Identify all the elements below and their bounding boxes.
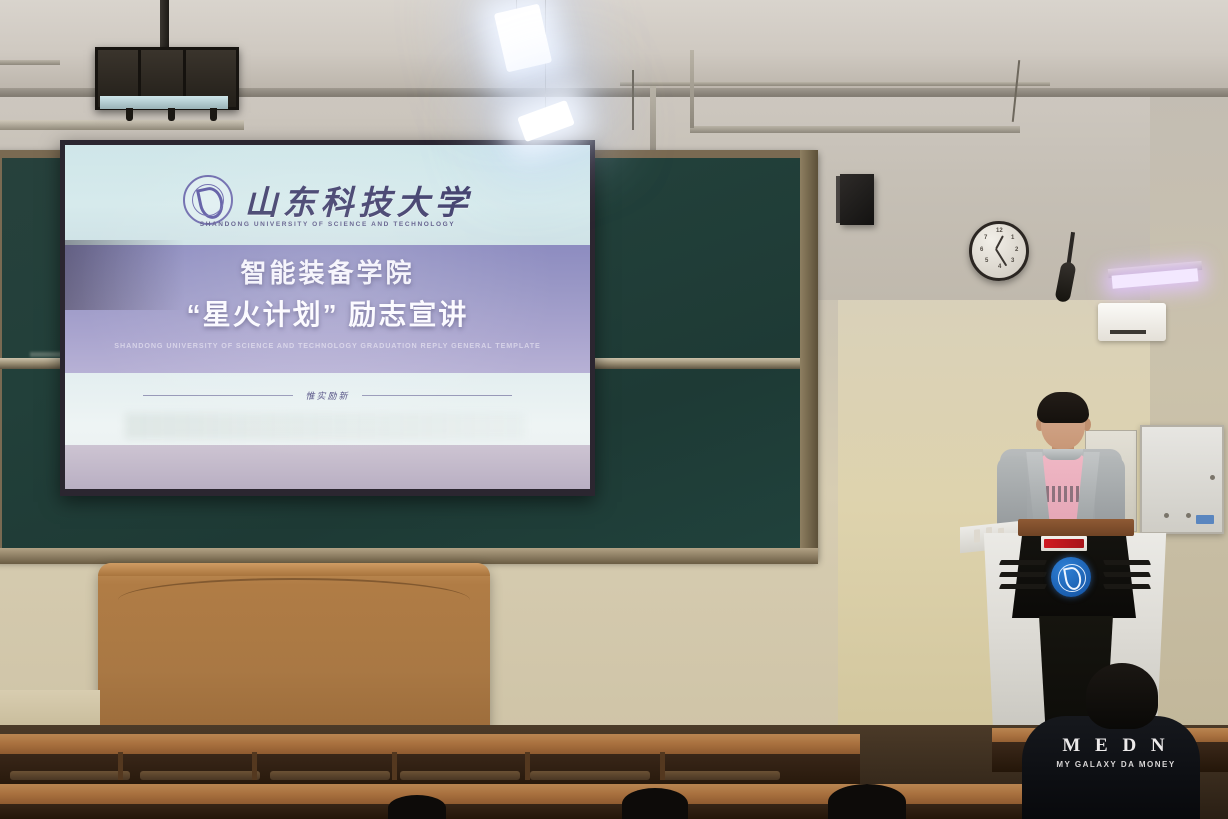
clock-numeral-3: 3 xyxy=(1011,258,1014,264)
clock-numeral-2: 2 xyxy=(1015,247,1018,253)
podium-vent-r1 xyxy=(1103,560,1151,565)
ceiling-conduit xyxy=(690,126,1020,133)
podium-label-red xyxy=(1044,539,1084,548)
clock-numeral-1: 1 xyxy=(1011,235,1014,241)
podium-vent-r3 xyxy=(1103,584,1151,589)
clock-numeral-4: 4 xyxy=(998,264,1001,270)
bench-leg-2 xyxy=(252,752,257,780)
wall-access-point xyxy=(1098,303,1166,341)
university-motto: 惟实励新 xyxy=(305,389,349,402)
podium-vent-l2 xyxy=(999,572,1047,577)
clock-numeral-12: 12 xyxy=(996,228,1003,234)
podium-desktop xyxy=(1018,519,1134,536)
blackboard-right-frame xyxy=(800,150,818,564)
projector-foot-3 xyxy=(210,108,217,121)
audience-head-2 xyxy=(622,788,688,819)
panel-screw-1 xyxy=(1164,513,1169,518)
presentation-slide: 山东科技大学 SHANDONG UNIVERSITY OF SCIENCE AN… xyxy=(65,145,590,489)
bench-leg-4 xyxy=(525,752,530,780)
bench-seat-4 xyxy=(400,771,520,780)
bench-seat-2 xyxy=(140,771,260,780)
bench-leg-5 xyxy=(660,752,665,780)
conduit-riser xyxy=(690,50,694,128)
shirt-graphic xyxy=(1046,486,1080,502)
bench-leg-3 xyxy=(392,752,397,780)
bench-seat-5 xyxy=(530,771,650,780)
audience-head-1 xyxy=(388,795,446,819)
motto-rule-left xyxy=(143,395,293,396)
podium-vent-l1 xyxy=(999,560,1047,565)
projector-mount-pole xyxy=(160,0,169,50)
jacket-text-main: M E D N xyxy=(1046,735,1186,757)
panel-sticker xyxy=(1196,515,1214,524)
blackboard-bottom-rail xyxy=(0,548,818,564)
panel-screw-2 xyxy=(1186,513,1191,518)
shelf-item-1 xyxy=(974,529,980,543)
projection-screen: 山东科技大学 SHANDONG UNIVERSITY OF SCIENCE AN… xyxy=(60,140,595,496)
projector-foot-2 xyxy=(168,108,175,121)
access-point-vent xyxy=(1110,330,1146,334)
projector-foot-1 xyxy=(126,108,133,121)
bench-seat-3 xyxy=(270,771,390,780)
projector-body xyxy=(100,96,228,109)
pipe-left xyxy=(0,60,60,65)
clock-numeral-6: 6 xyxy=(980,247,983,253)
audience-student-head xyxy=(1086,663,1158,729)
clock-hour-hand xyxy=(995,235,1004,249)
far-right-wall xyxy=(1150,95,1228,735)
podium-vent-l3 xyxy=(999,584,1047,589)
wall-clock: 12 1 2 3 4 5 6 7 xyxy=(969,221,1029,281)
bench-row1-top xyxy=(0,734,860,754)
audience-head-3 xyxy=(828,784,906,819)
seal-glyph-icon xyxy=(195,185,225,221)
clock-numeral-5: 5 xyxy=(985,258,988,264)
university-seal-icon xyxy=(183,175,233,225)
bench-seat-1 xyxy=(10,771,130,780)
motto-rule-right xyxy=(362,395,512,396)
hanging-wire-a xyxy=(632,70,634,130)
lecture-hall-photo: 山东科技大学 SHANDONG UNIVERSITY OF SCIENCE AN… xyxy=(0,0,1228,819)
university-name-en: SHANDONG UNIVERSITY OF SCIENCE AND TECHN… xyxy=(65,221,590,228)
slide-ghost-text xyxy=(125,413,525,439)
jacket-text-sub: MY GALAXY DA MONEY xyxy=(1046,760,1186,769)
slide-title-line1: 智能装备学院 xyxy=(65,253,590,290)
ceiling-pipe-upper xyxy=(620,82,1050,86)
podium-vent-r2 xyxy=(1103,572,1151,577)
panel-lock xyxy=(1210,475,1215,480)
slide-subtitle-en: SHANDONG UNIVERSITY OF SCIENCE AND TECHN… xyxy=(65,341,590,350)
slide-bottom-strip xyxy=(65,445,590,489)
bench-leg-1 xyxy=(118,752,123,780)
blackboard-top-ledge xyxy=(0,120,244,130)
presenter-hair xyxy=(1037,392,1089,423)
wall-speaker xyxy=(840,174,874,225)
presenter-collar xyxy=(1043,449,1083,460)
bench-seat-6 xyxy=(660,771,780,780)
stage-desk-lip xyxy=(98,563,490,576)
university-name-cn: 山东科技大学 xyxy=(245,176,473,224)
clock-numeral-7: 7 xyxy=(984,235,987,241)
slide-motto-row: 惟实励新 xyxy=(65,387,590,403)
slide-title-line2: “星火计划” 励志宣讲 xyxy=(65,293,590,333)
